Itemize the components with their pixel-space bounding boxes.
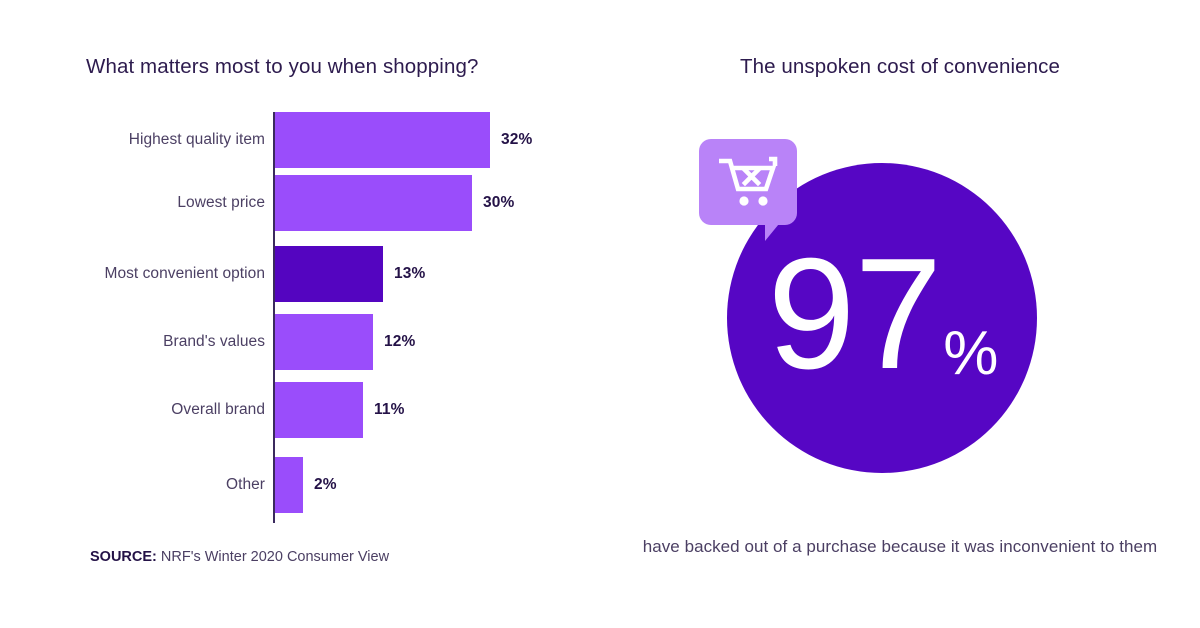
bar-track: 32% <box>275 112 532 168</box>
bar-category-label: Highest quality item <box>85 112 265 168</box>
chart-plot-area: Highest quality item 32% Lowest price 30… <box>86 112 566 524</box>
bar-category-label: Other <box>85 457 265 513</box>
bar-row: Most convenient option 13% <box>86 246 566 302</box>
bar-fill <box>275 175 472 231</box>
bar-row: Lowest price 30% <box>86 175 566 231</box>
bar-track: 2% <box>275 457 337 513</box>
stat-panel: The unspoken cost of convenience 97% hav… <box>600 0 1200 628</box>
bar-track: 12% <box>275 314 415 370</box>
bar-track: 13% <box>275 246 425 302</box>
bar-fill <box>275 457 303 513</box>
bar-value-label: 30% <box>483 194 514 212</box>
badge-tail <box>765 219 783 241</box>
shopping-cart-x-icon <box>719 155 779 209</box>
bar-fill-highlighted <box>275 246 383 302</box>
bar-category-label: Lowest price <box>85 175 265 231</box>
bar-value-label: 12% <box>384 333 415 351</box>
bar-category-label: Most convenient option <box>85 246 265 302</box>
bar-category-label: Overall brand <box>85 382 265 438</box>
cart-badge <box>699 139 797 237</box>
source-label: SOURCE: <box>90 549 157 565</box>
bar-value-label: 13% <box>394 265 425 283</box>
bar-row: Brand's values 12% <box>86 314 566 370</box>
bar-row: Other 2% <box>86 457 566 513</box>
bar-row: Highest quality item 32% <box>86 112 566 168</box>
bar-value-label: 2% <box>314 476 337 494</box>
stat-number-value: 97 <box>768 235 942 393</box>
bar-category-label: Brand's values <box>85 314 265 370</box>
bar-row: Overall brand 11% <box>86 382 566 438</box>
bar-fill <box>275 314 373 370</box>
source-text: NRF's Winter 2020 Consumer View <box>157 549 389 565</box>
stat-title: The unspoken cost of convenience <box>600 55 1200 79</box>
infographic-root: What matters most to you when shopping? … <box>0 0 1200 628</box>
bar-track: 30% <box>275 175 514 231</box>
stat-caption: have backed out of a purchase because it… <box>630 534 1170 560</box>
source-line: SOURCE: NRF's Winter 2020 Consumer View <box>90 549 389 565</box>
bar-chart-panel: What matters most to you when shopping? … <box>0 0 600 628</box>
bar-fill <box>275 382 363 438</box>
bar-value-label: 32% <box>501 131 532 149</box>
bar-value-label: 11% <box>374 401 404 419</box>
chart-title: What matters most to you when shopping? <box>86 55 478 79</box>
stat-percent-sign: % <box>943 323 998 385</box>
bar-fill <box>275 112 490 168</box>
bar-track: 11% <box>275 382 404 438</box>
